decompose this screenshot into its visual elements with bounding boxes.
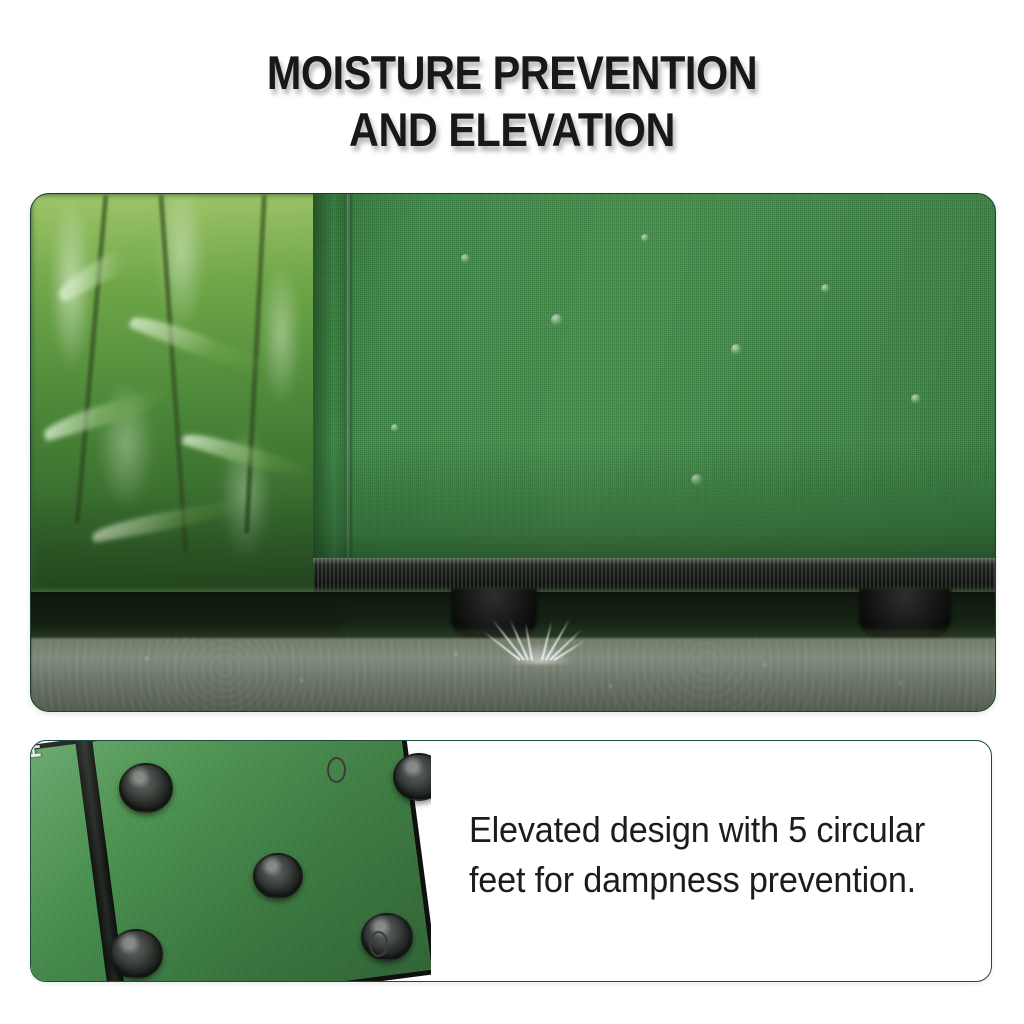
zipper-pull-loop	[327, 757, 346, 783]
brand-label: HEAVY DUTY	[31, 741, 47, 759]
water-droplet	[391, 424, 399, 432]
rubber-foot	[361, 913, 413, 961]
water-droplet	[641, 234, 649, 242]
main-photo-elevation	[30, 193, 996, 712]
rubber-foot	[109, 929, 163, 979]
water-droplet	[911, 394, 921, 404]
water-splash	[423, 586, 653, 664]
bag-underside-photo: HEAVY DUTY	[31, 741, 431, 981]
rubber-foot	[253, 853, 303, 899]
title-line-1: MOISTURE PREVENTION	[61, 44, 962, 101]
bag-lower-shading	[313, 444, 996, 568]
caption-line-2: feet for dampness prevention.	[469, 855, 944, 905]
caption-line-1: Elevated design with 5 circular	[469, 805, 944, 855]
zipper-pull-loop	[369, 931, 388, 957]
title-line-2: AND ELEVATION	[61, 101, 962, 158]
water-droplet	[821, 284, 830, 293]
rubber-foot	[119, 763, 173, 813]
water-droplet	[731, 344, 742, 355]
page-title: MOISTURE PREVENTION AND ELEVATION	[0, 44, 1024, 158]
infographic-page: MOISTURE PREVENTION AND ELEVATION	[0, 0, 1024, 1024]
water-droplet	[551, 314, 563, 326]
water-droplet	[461, 254, 470, 263]
feature-callout-panel: HEAVY DUTY Elevated design with 5 circul…	[30, 740, 992, 982]
feature-caption: Elevated design with 5 circular feet for…	[469, 805, 944, 905]
trim-highlight	[313, 558, 996, 565]
